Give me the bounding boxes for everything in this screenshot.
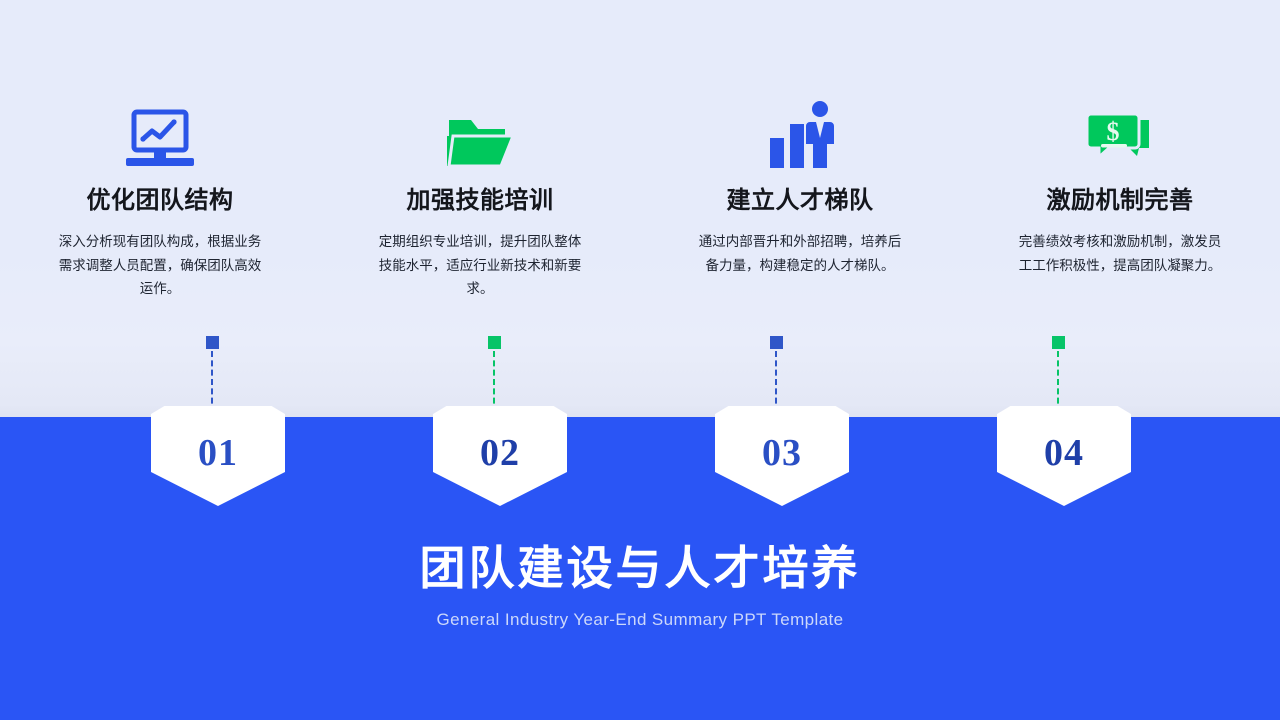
dashed-line bbox=[775, 351, 777, 413]
banner-number: 03 bbox=[762, 434, 802, 472]
feature-title: 优化团队结构 bbox=[87, 188, 234, 214]
feature-description: 定期组织专业培训，提升团队整体技能水平，适应行业新技术和新要求。 bbox=[374, 230, 586, 300]
feature-columns: 优化团队结构 深入分析现有团队构成，根据业务需求调整人员配置，确保团队高效运作。… bbox=[0, 0, 1280, 417]
page-subtitle: General Industry Year-End Summary PPT Te… bbox=[0, 610, 1280, 630]
feature-column-4[interactable]: $ 激励机制完善 完善绩效考核和激励机制，激发员工工作积极性，提高团队凝聚力。 bbox=[960, 0, 1280, 417]
connector-3 bbox=[775, 336, 777, 413]
feature-column-1[interactable]: 优化团队结构 深入分析现有团队构成，根据业务需求调整人员配置，确保团队高效运作。 bbox=[0, 0, 320, 417]
banner-number: 01 bbox=[198, 434, 238, 472]
feature-title: 激励机制完善 bbox=[1047, 188, 1194, 214]
dollar-chat-icon: $ bbox=[1087, 92, 1153, 170]
bar-chart-person-icon bbox=[766, 92, 834, 170]
laptop-chart-icon bbox=[124, 92, 196, 170]
marker-square bbox=[770, 336, 783, 349]
marker-square bbox=[488, 336, 501, 349]
footer-block: 团队建设与人才培养 General Industry Year-End Summ… bbox=[0, 540, 1280, 630]
connector-4 bbox=[1057, 336, 1059, 413]
page-title: 团队建设与人才培养 bbox=[0, 540, 1280, 598]
feature-title: 加强技能培训 bbox=[407, 188, 554, 214]
feature-column-3[interactable]: 建立人才梯队 通过内部晋升和外部招聘，培养后备力量，构建稳定的人才梯队。 bbox=[640, 0, 960, 417]
dashed-line bbox=[1057, 351, 1059, 413]
feature-title: 建立人才梯队 bbox=[727, 188, 874, 214]
dashed-line bbox=[493, 351, 495, 413]
slide-canvas: 优化团队结构 深入分析现有团队构成，根据业务需求调整人员配置，确保团队高效运作。… bbox=[0, 0, 1280, 720]
marker-square bbox=[1052, 336, 1065, 349]
banner-number: 04 bbox=[1044, 434, 1084, 472]
connector-1 bbox=[211, 336, 213, 413]
connector-2 bbox=[493, 336, 495, 413]
svg-text:$: $ bbox=[1107, 117, 1120, 146]
banner-number: 02 bbox=[480, 434, 520, 472]
feature-description: 深入分析现有团队构成，根据业务需求调整人员配置，确保团队高效运作。 bbox=[54, 230, 266, 300]
feature-description: 通过内部晋升和外部招聘，培养后备力量，构建稳定的人才梯队。 bbox=[694, 230, 906, 276]
feature-column-2[interactable]: 加强技能培训 定期组织专业培训，提升团队整体技能水平，适应行业新技术和新要求。 bbox=[320, 0, 640, 417]
feature-description: 完善绩效考核和激励机制，激发员工工作积极性，提高团队凝聚力。 bbox=[1014, 230, 1226, 276]
dashed-line bbox=[211, 351, 213, 413]
marker-square bbox=[206, 336, 219, 349]
folder-icon bbox=[445, 92, 515, 170]
